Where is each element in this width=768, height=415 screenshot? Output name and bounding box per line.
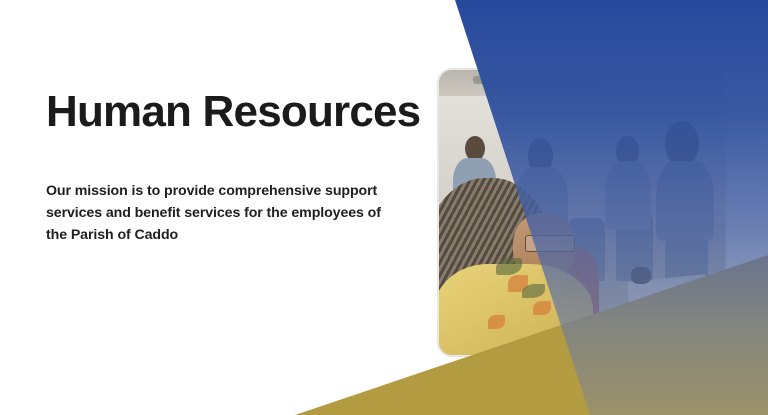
attendee-head xyxy=(665,121,699,167)
floral-motif xyxy=(533,301,550,315)
text-column: Human Resources Our mission is to provid… xyxy=(46,88,416,246)
attendee-head xyxy=(465,136,485,162)
page-title: Human Resources xyxy=(46,88,416,136)
attendee-body xyxy=(656,161,713,241)
slide-canvas: Human Resources Our mission is to provid… xyxy=(0,0,768,415)
meeting-room-photo xyxy=(439,70,725,355)
glasses xyxy=(525,235,576,251)
wall-band xyxy=(473,76,605,84)
photo-card xyxy=(437,68,727,357)
mission-statement: Our mission is to provide comprehensive … xyxy=(46,180,396,246)
attendee-body xyxy=(605,161,651,229)
wristwatch xyxy=(631,267,651,284)
ceiling-strip xyxy=(439,70,725,96)
